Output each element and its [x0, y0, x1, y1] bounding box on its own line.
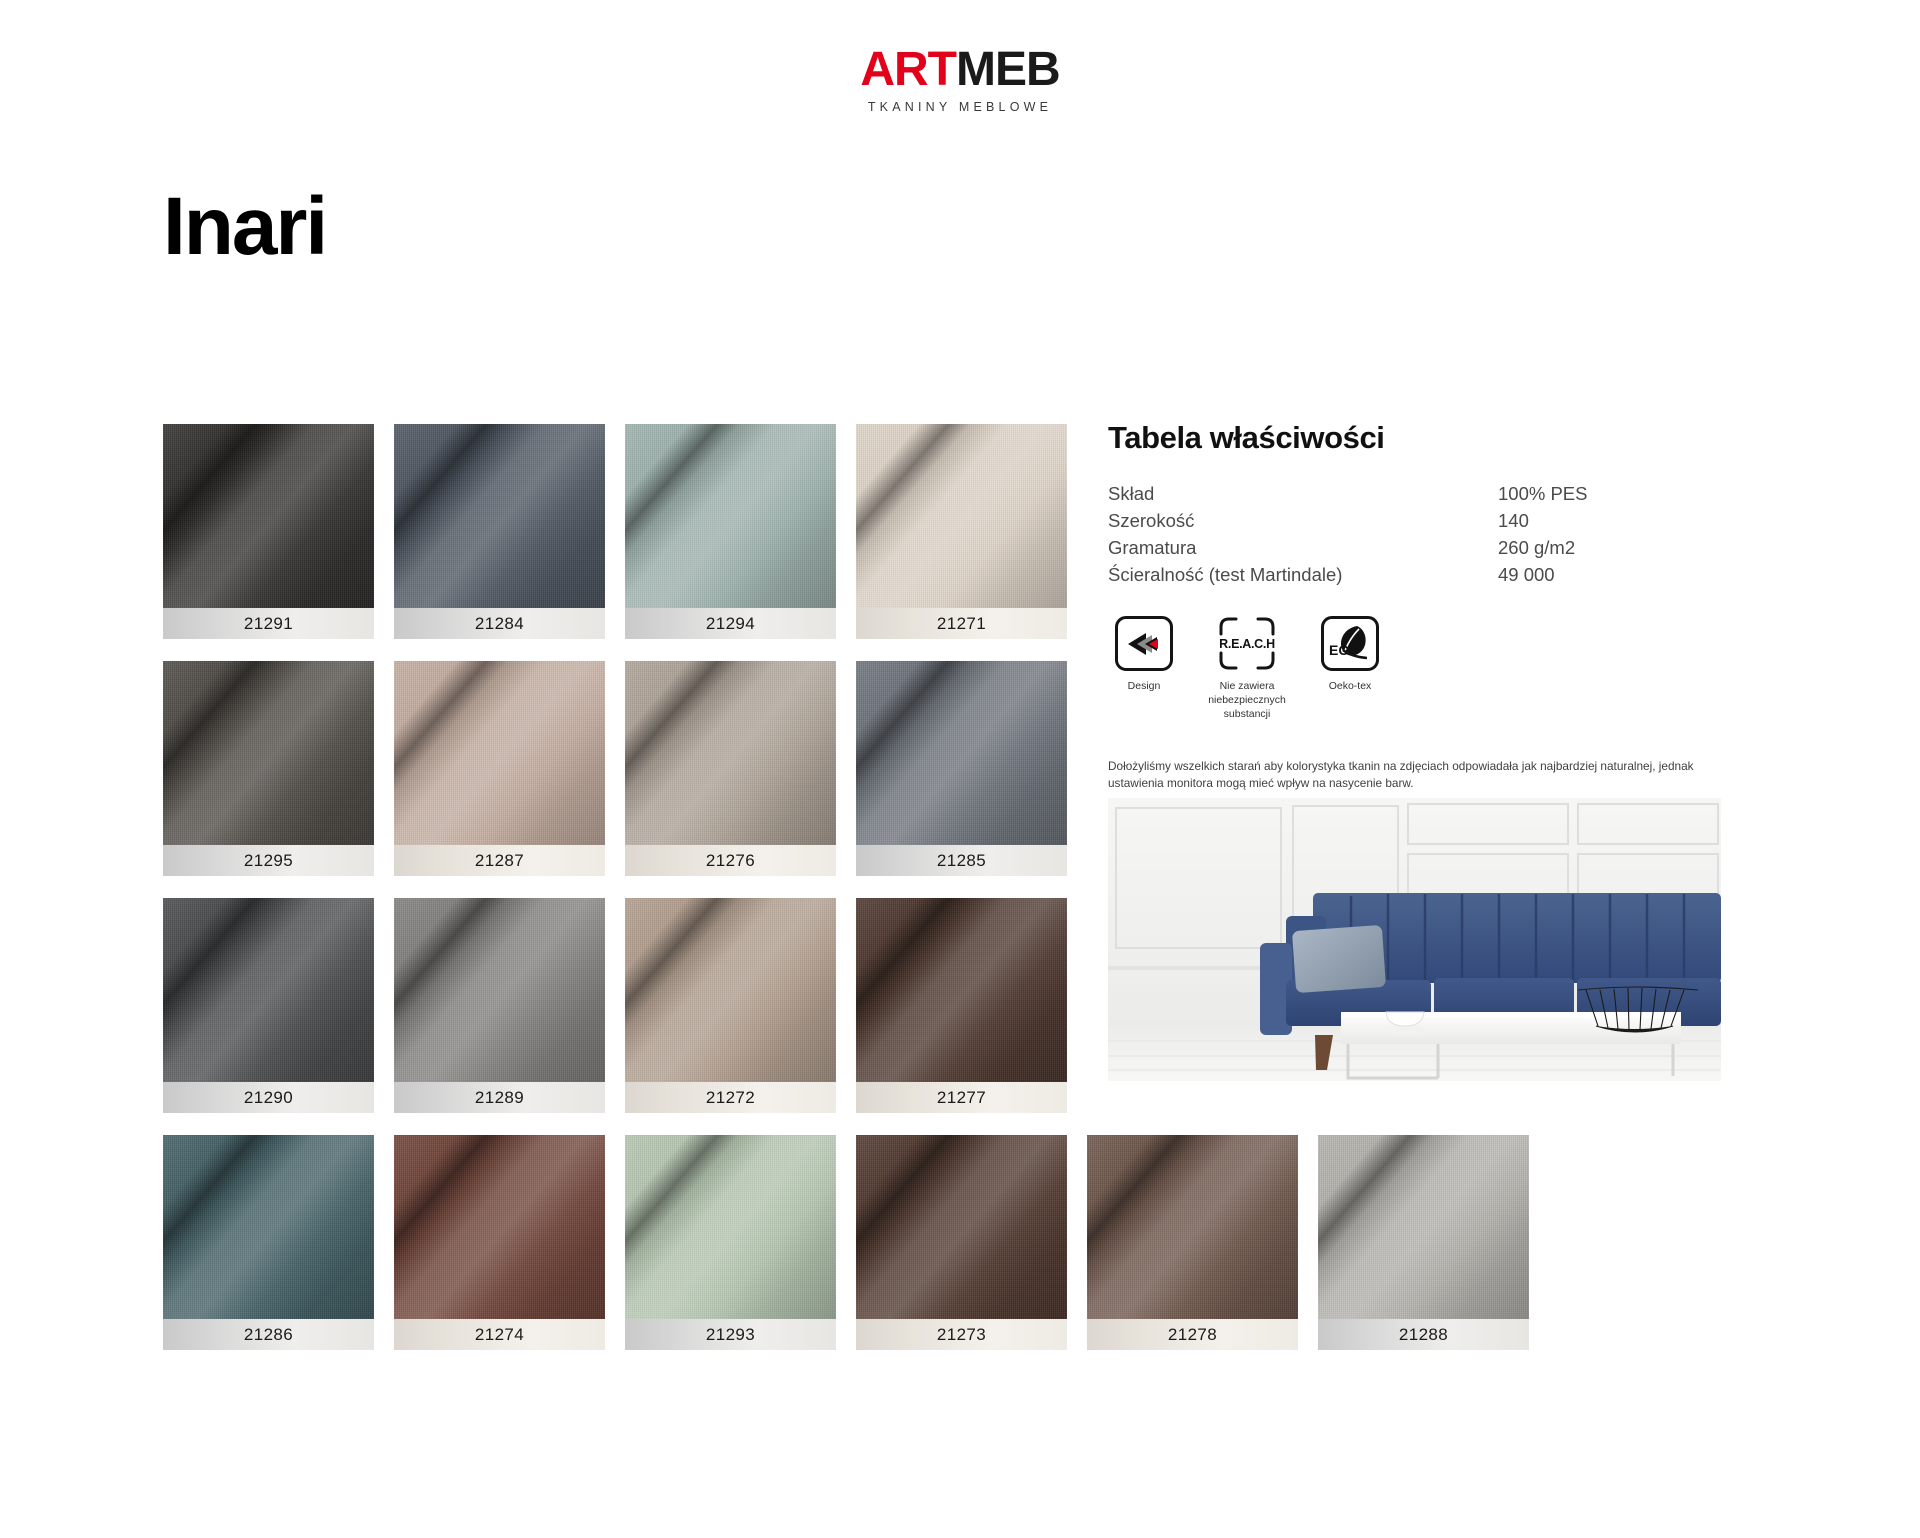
- swatch-image: [394, 898, 605, 1082]
- swatch-image: [163, 424, 374, 608]
- brand-logo-meb: MEB: [956, 43, 1060, 96]
- swatch-21285[interactable]: 21285: [856, 661, 1067, 876]
- swatch-image: [856, 898, 1067, 1082]
- swatch-code-label: 21289: [394, 1082, 605, 1113]
- swatch-21277[interactable]: 21277: [856, 898, 1067, 1113]
- swatch-21271[interactable]: 21271: [856, 424, 1067, 639]
- swatch-21295[interactable]: 21295: [163, 661, 374, 876]
- brand-tagline: TKANINY MEBLOWE: [0, 100, 1920, 114]
- swatch-21287[interactable]: 21287: [394, 661, 605, 876]
- swatch-code-label: 21287: [394, 845, 605, 876]
- swatch-code-label: 21295: [163, 845, 374, 876]
- swatch-image: [163, 898, 374, 1082]
- badge-caption: Oeko-tex: [1329, 680, 1372, 694]
- swatch-image: [856, 661, 1067, 845]
- eco-leaf-icon: ECO: [1321, 616, 1379, 671]
- swatch-image: [394, 424, 605, 608]
- swatch-image: [394, 661, 605, 845]
- swatch-row: 21295 21287 21276 21285: [163, 661, 1083, 876]
- table-row: Ścieralność (test Martindale) 49 000: [1108, 564, 1728, 591]
- swatch-21278[interactable]: 21278: [1087, 1135, 1298, 1350]
- swatch-row: 21290 21289 21272 21277: [163, 898, 1083, 1113]
- swatch-image: [625, 661, 836, 845]
- swatch-21291[interactable]: 21291: [163, 424, 374, 639]
- property-label: Ścieralność (test Martindale): [1108, 564, 1498, 591]
- brand-logo: ARTMEB: [0, 46, 1920, 94]
- swatch-21272[interactable]: 21272: [625, 898, 836, 1113]
- badge-oekotex: ECO Oeko-tex: [1314, 616, 1386, 722]
- swatch-row: 21291 21284 21294 21271: [163, 424, 1083, 639]
- swatch-code-label: 21273: [856, 1319, 1067, 1350]
- property-label: Skład: [1108, 483, 1498, 510]
- swatch-image: [1318, 1135, 1529, 1319]
- brand-logo-art: ART: [860, 43, 956, 96]
- swatch-21274[interactable]: 21274: [394, 1135, 605, 1350]
- properties-table: Skład 100% PES Szerokość 140 Gramatura 2…: [1108, 483, 1728, 591]
- svg-text:ECO: ECO: [1329, 642, 1359, 658]
- certification-badges: Design R.E.A.C.H Nie zawiera niebezpiecz…: [1108, 616, 1728, 722]
- table-row: Szerokość 140: [1108, 510, 1728, 537]
- table-row: Skład 100% PES: [1108, 483, 1728, 510]
- properties-title: Tabela właściwości: [1108, 420, 1728, 456]
- swatch-image: [625, 898, 836, 1082]
- badge-caption: Nie zawiera niebezpiecznych substancji: [1208, 680, 1286, 722]
- swatch-code-label: 21276: [625, 845, 836, 876]
- swatch-grid: 21291 21284 21294 21271 21295: [163, 424, 1083, 1372]
- swatch-code-label: 21284: [394, 608, 605, 639]
- reach-icon: R.E.A.C.H: [1218, 616, 1276, 671]
- property-label: Gramatura: [1108, 537, 1498, 564]
- properties-panel: Tabela właściwości Skład 100% PES Szerok…: [1108, 420, 1728, 826]
- swatch-image: [163, 1135, 374, 1319]
- swatch-21284[interactable]: 21284: [394, 424, 605, 639]
- swatch-21294[interactable]: 21294: [625, 424, 836, 639]
- swatch-21290[interactable]: 21290: [163, 898, 374, 1113]
- property-label: Szerokość: [1108, 510, 1498, 537]
- swatch-21289[interactable]: 21289: [394, 898, 605, 1113]
- swatch-image: [625, 424, 836, 608]
- swatch-image: [856, 1135, 1067, 1319]
- swatch-image: [394, 1135, 605, 1319]
- swatch-code-label: 21288: [1318, 1319, 1529, 1350]
- badge-reach: R.E.A.C.H Nie zawiera niebezpiecznych su…: [1211, 616, 1283, 722]
- swatch-code-label: 21277: [856, 1082, 1067, 1113]
- property-value: 140: [1498, 510, 1728, 537]
- property-value: 49 000: [1498, 564, 1728, 591]
- table-row: Gramatura 260 g/m2: [1108, 537, 1728, 564]
- swatch-code-label: 21285: [856, 845, 1067, 876]
- design-award-icon: [1115, 616, 1173, 671]
- swatch-code-label: 21293: [625, 1319, 836, 1350]
- interior-photo: [1108, 798, 1721, 1081]
- swatch-code-label: 21294: [625, 608, 836, 639]
- swatch-image: [625, 1135, 836, 1319]
- swatch-image: [856, 424, 1067, 608]
- disclaimer-paragraph-1: Dołożyliśmy wszelkich starań aby kolorys…: [1108, 758, 1718, 793]
- swatch-21273[interactable]: 21273: [856, 1135, 1067, 1350]
- brand-header: ARTMEB TKANINY MEBLOWE: [0, 46, 1920, 114]
- badge-caption: Design: [1128, 680, 1161, 694]
- swatch-21288[interactable]: 21288: [1318, 1135, 1529, 1350]
- swatch-21293[interactable]: 21293: [625, 1135, 836, 1350]
- badge-design: Design: [1108, 616, 1180, 722]
- swatch-21286[interactable]: 21286: [163, 1135, 374, 1350]
- swatch-code-label: 21286: [163, 1319, 374, 1350]
- swatch-code-label: 21274: [394, 1319, 605, 1350]
- swatch-code-label: 21291: [163, 608, 374, 639]
- swatch-image: [1087, 1135, 1298, 1319]
- page-title: Inari: [163, 186, 326, 268]
- property-value: 100% PES: [1498, 483, 1728, 510]
- swatch-code-label: 21290: [163, 1082, 374, 1113]
- swatch-row: 21286 21274 21293 21273 21278 21288: [163, 1135, 1083, 1350]
- swatch-code-label: 21272: [625, 1082, 836, 1113]
- swatch-code-label: 21278: [1087, 1319, 1298, 1350]
- swatch-21276[interactable]: 21276: [625, 661, 836, 876]
- property-value: 260 g/m2: [1498, 537, 1728, 564]
- swatch-image: [163, 661, 374, 845]
- fabric-collection-sheet: ARTMEB TKANINY MEBLOWE Inari 21291 21284…: [0, 0, 1920, 1538]
- swatch-code-label: 21271: [856, 608, 1067, 639]
